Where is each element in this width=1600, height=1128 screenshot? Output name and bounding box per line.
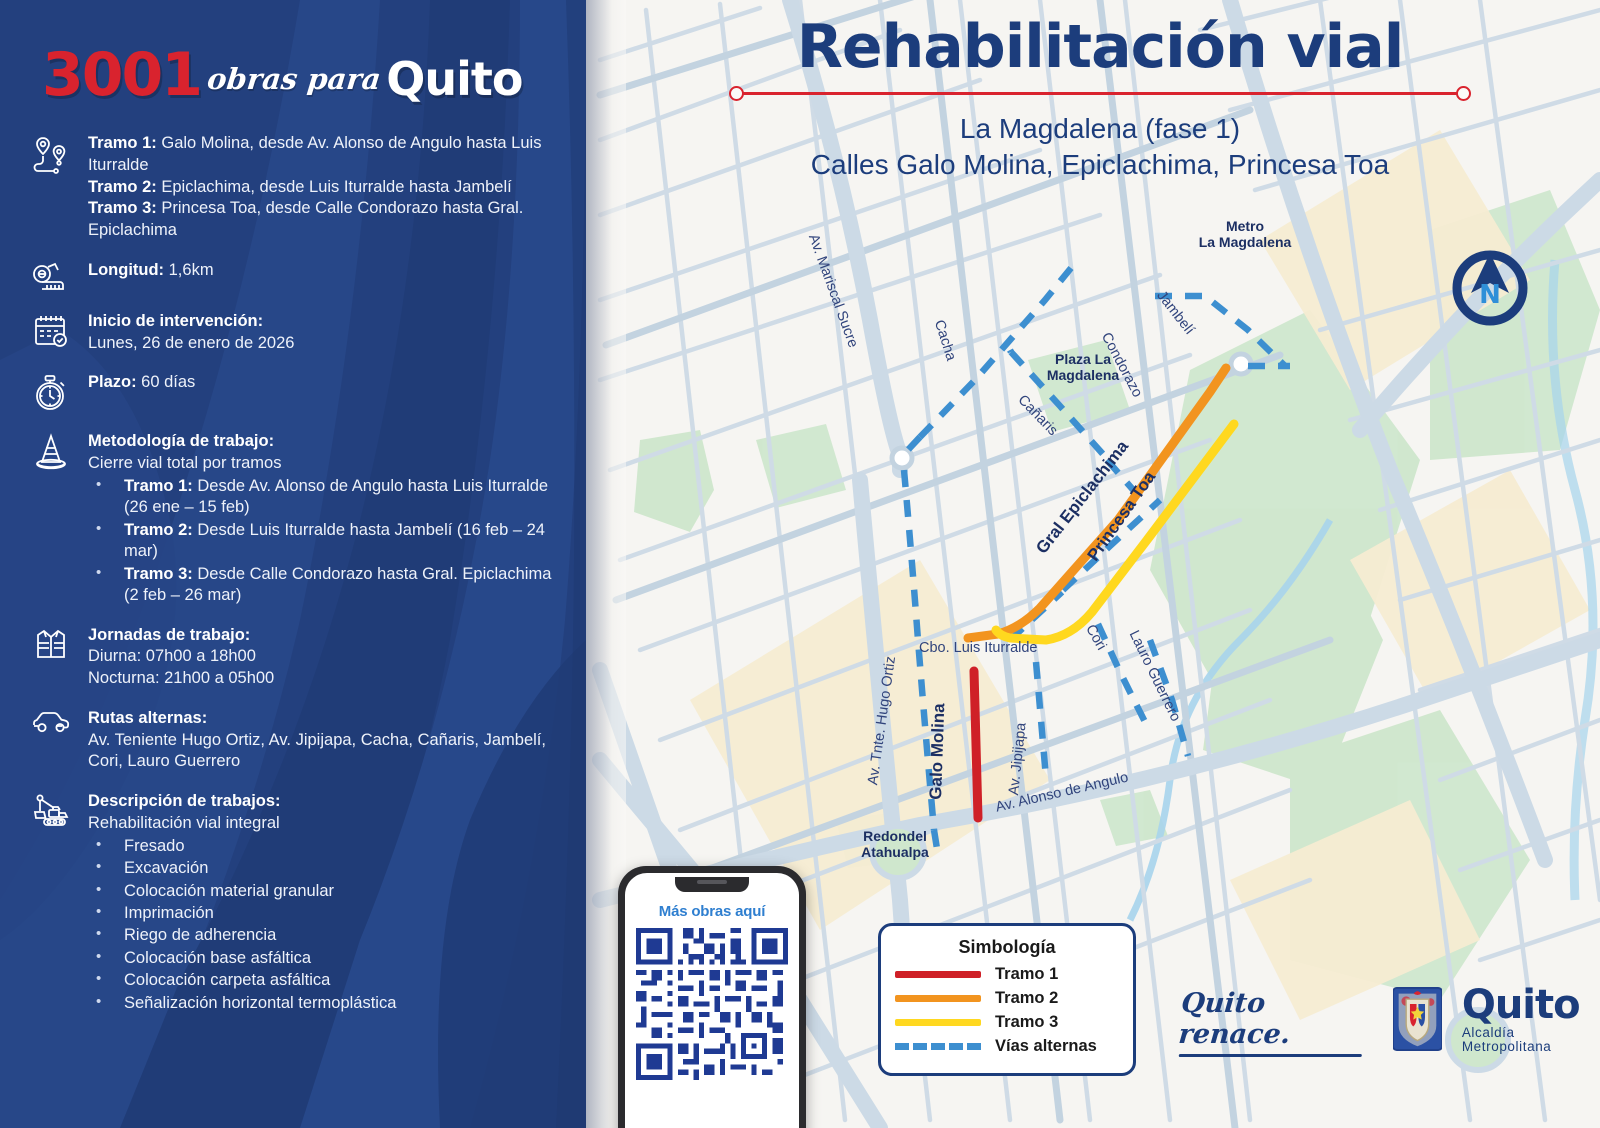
brand-number: 3001: [42, 48, 201, 102]
slogan-quito-renace: Quito renace.: [1177, 988, 1375, 1050]
plaza-line1: Plaza La: [1055, 351, 1111, 367]
quito-coat-of-arms-icon: [1393, 986, 1442, 1052]
metro-line1: Metro: [1226, 218, 1264, 234]
descripcion-value: Rehabilitación vial integral: [88, 814, 280, 832]
tramo-1-text: Galo Molina, desde Av. Alonso de Angulo …: [88, 134, 541, 174]
safety-vest-icon: [28, 624, 74, 664]
longitud-value: 1,6km: [164, 261, 214, 279]
map-label-metro: Metro La Magdalena: [1190, 218, 1300, 250]
legend-swatch-tramo-2: [895, 995, 981, 1002]
legend-title: Simbología: [895, 937, 1119, 958]
rule-dot-right: [1456, 86, 1471, 101]
quito-logo: Quito Alcaldía Metropolitana: [1462, 985, 1600, 1053]
north-compass-icon: N: [1449, 247, 1531, 334]
legend-item-tramo-1: Tramo 1: [895, 965, 1119, 984]
longitud-label: Longitud:: [88, 261, 164, 279]
quito-logo-name: Quito: [1462, 985, 1600, 1025]
plazo-label: Plazo:: [88, 373, 137, 391]
metro-line2: La Magdalena: [1199, 234, 1292, 250]
descripcion-item: Colocación base asfáltica: [88, 948, 396, 969]
metodologia-item: Tramo 3: Desde Calle Condorazo hasta Gra…: [88, 564, 552, 607]
sidebar: 3001 obras para Quito Tra: [0, 0, 586, 1128]
legend-item-tramo-3: Tramo 3: [895, 1013, 1119, 1032]
legend-label-tramo-3: Tramo 3: [995, 1013, 1058, 1032]
quito-logo-sub: Alcaldía Metropolitana: [1462, 1026, 1600, 1053]
tramo-1-label: Tramo 1:: [88, 134, 157, 152]
redondel-line2: Atahualpa: [861, 844, 929, 860]
phone-screen: Más obras aquí: [625, 873, 799, 1128]
title-rule: [729, 85, 1471, 101]
info-row-rutas: Rutas alternas: Av. Teniente Hugo Ortiz,…: [28, 707, 552, 773]
brand-city: Quito: [386, 58, 522, 102]
descripcion-item: Imprimación: [88, 903, 396, 924]
descripcion-item: Colocación material granular: [88, 881, 396, 902]
legend-label-tramo-2: Tramo 2: [995, 989, 1058, 1008]
compass-letter-n: N: [1479, 280, 1501, 310]
map-header: Rehabilitación vial La Magdalena (fase 1…: [600, 16, 1600, 183]
longitud-text: Longitud: 1,6km: [88, 259, 214, 282]
jornadas-nocturna: Nocturna: 21h00 a 05h00: [88, 669, 274, 687]
legend-swatch-vias-alternas: [895, 1043, 981, 1050]
rutas-value: Av. Teniente Hugo Ortiz, Av. Jipijapa, C…: [88, 731, 546, 771]
rutas-text: Rutas alternas: Av. Teniente Hugo Ortiz,…: [88, 707, 552, 773]
traffic-cone-icon: [28, 430, 74, 472]
map-pins-route-icon: [28, 132, 74, 174]
car-icon: [28, 707, 74, 735]
subtitle-line-1: La Magdalena (fase 1): [600, 111, 1600, 147]
phone-speaker: [697, 880, 727, 884]
tape-measure-icon: [28, 259, 74, 293]
legend-item-vias-alternas: Vías alternas: [895, 1037, 1119, 1056]
inicio-label: Inicio de intervención:: [88, 311, 294, 333]
map-label-redondel: Redondel Atahualpa: [840, 828, 950, 860]
qr-code[interactable]: [636, 928, 788, 1080]
legend-box: Simbología Tramo 1 Tramo 2 Tramo 3 Vías …: [878, 923, 1136, 1076]
metodologia-text: Metodología de trabajo: Cierre vial tota…: [88, 430, 552, 606]
rule-dot-left: [729, 86, 744, 101]
descripcion-item: Señalización horizontal termoplástica: [88, 993, 396, 1014]
metodologia-item-label: Tramo 3:: [124, 565, 193, 583]
footer-brand-bar: Quito renace. Quito Alcaldía Metropolita…: [1180, 985, 1600, 1053]
page-title: Rehabilitación vial: [600, 16, 1600, 79]
plaza-line2: Magdalena: [1047, 367, 1119, 383]
brand-script: obras para: [205, 65, 382, 102]
map-label-galo-molina: Galo Molina: [926, 703, 949, 800]
excavator-icon: [28, 790, 74, 832]
metodologia-label: Metodología de trabajo:: [88, 431, 552, 453]
qr-title: Más obras aquí: [625, 903, 799, 920]
rutas-label: Rutas alternas:: [88, 708, 552, 730]
descripcion-item: Fresado: [88, 836, 396, 857]
tramo-2-text: Epiclachima, desde Luis Iturralde hasta …: [157, 178, 512, 196]
stopwatch-icon: [28, 371, 74, 413]
inicio-value: Lunes, 26 de enero de 2026: [88, 334, 294, 352]
jornadas-label: Jornadas de trabajo:: [88, 625, 274, 647]
descripcion-item: Excavación: [88, 858, 396, 879]
metodologia-item-label: Tramo 1:: [124, 477, 193, 495]
tramo-2-label: Tramo 2:: [88, 178, 157, 196]
jornadas-diurna: Diurna: 07h00 a 18h00: [88, 647, 256, 665]
inicio-text: Inicio de intervención: Lunes, 26 de ene…: [88, 310, 294, 355]
legend-item-tramo-2: Tramo 2: [895, 989, 1119, 1008]
rule-line: [739, 92, 1461, 95]
legend-label-vias-alternas: Vías alternas: [995, 1037, 1097, 1056]
info-row-descripcion: Descripción de trabajos: Rehabilitación …: [28, 790, 552, 1014]
descripcion-item: Riego de adherencia: [88, 925, 396, 946]
legend-swatch-tramo-3: [895, 1019, 981, 1026]
infographic-page: Rehabilitación vial La Magdalena (fase 1…: [0, 0, 1600, 1128]
descripcion-list: Fresado Excavación Colocación material g…: [88, 836, 396, 1015]
jornadas-text: Jornadas de trabajo: Diurna: 07h00 a 18h…: [88, 624, 274, 690]
descripcion-label: Descripción de trabajos:: [88, 791, 396, 813]
info-row-tramos: Tramo 1: Galo Molina, desde Av. Alonso d…: [28, 132, 552, 242]
tramos-text: Tramo 1: Galo Molina, desde Av. Alonso d…: [88, 132, 552, 242]
info-row-inicio: Inicio de intervención: Lunes, 26 de ene…: [28, 310, 552, 355]
metodologia-list: Tramo 1: Desde Av. Alonso de Angulo hast…: [88, 476, 552, 607]
calendar-check-icon: [28, 310, 74, 350]
subtitle-line-2: Calles Galo Molina, Epiclachima, Princes…: [600, 147, 1600, 183]
info-row-longitud: Longitud: 1,6km: [28, 259, 552, 293]
tramo-3-label: Tramo 3:: [88, 199, 157, 217]
campaign-brand: 3001 obras para Quito: [42, 48, 552, 102]
redondel-line1: Redondel: [863, 828, 927, 844]
phone-mockup: Más obras aquí: [618, 866, 806, 1128]
metodologia-item: Tramo 2: Desde Luis Iturralde hasta Jamb…: [88, 520, 552, 563]
info-row-metodologia: Metodología de trabajo: Cierre vial tota…: [28, 430, 552, 606]
metodologia-item: Tramo 1: Desde Av. Alonso de Angulo hast…: [88, 476, 552, 519]
legend-label-tramo-1: Tramo 1: [995, 965, 1058, 984]
info-row-plazo: Plazo: 60 días: [28, 371, 552, 413]
metodologia-item-label: Tramo 2:: [124, 521, 193, 539]
descripcion-text: Descripción de trabajos: Rehabilitación …: [88, 790, 396, 1014]
tramo1-line: [974, 671, 978, 818]
metodologia-value: Cierre vial total por tramos: [88, 454, 281, 472]
info-row-jornadas: Jornadas de trabajo: Diurna: 07h00 a 18h…: [28, 624, 552, 690]
plazo-value: 60 días: [137, 373, 196, 391]
descripcion-item: Colocación carpeta asfáltica: [88, 970, 396, 991]
legend-swatch-tramo-1: [895, 971, 981, 978]
map-label-luis-iturralde: Cbo. Luis Iturralde: [919, 640, 1037, 656]
plazo-text: Plazo: 60 días: [88, 371, 195, 394]
